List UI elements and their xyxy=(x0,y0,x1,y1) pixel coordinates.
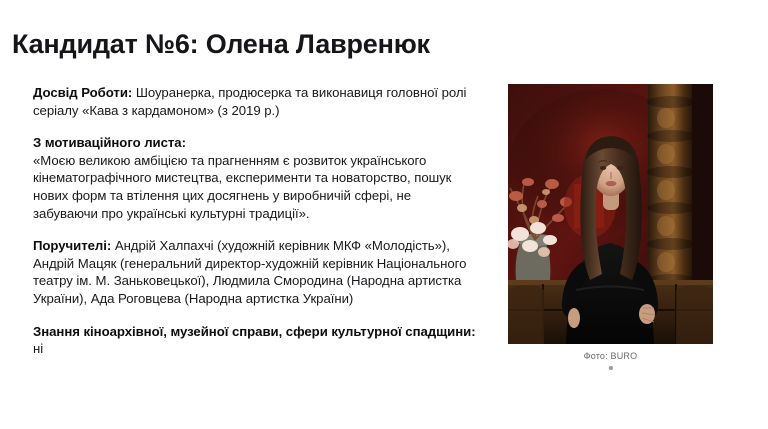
carousel-dot-indicator[interactable] xyxy=(609,366,613,370)
presentation-slide: Кандидат №6: Олена Лавренюк Досвід Робот… xyxy=(0,0,768,429)
experience-label: Досвід Роботи: xyxy=(33,85,132,100)
motivation-label: З мотиваційного листа: xyxy=(33,135,186,150)
knowledge-text: ні xyxy=(33,341,43,356)
guarantors-paragraph: Поручителі: Андрій Халпахчі (художній ке… xyxy=(33,237,479,307)
guarantors-label: Поручителі: xyxy=(33,238,111,253)
knowledge-label: Знання кіноархівної, музейної справи, сф… xyxy=(33,324,476,339)
candidate-photo xyxy=(508,84,713,344)
motivation-paragraph-label: З мотиваційного листа: xyxy=(33,134,479,152)
photo-column: Фото: BURO xyxy=(508,84,713,370)
motivation-text: «Моєю великою амбіцією та прагненням є р… xyxy=(33,153,451,221)
knowledge-paragraph: Знання кіноархівної, музейної справи, сф… xyxy=(33,323,479,358)
page-title: Кандидат №6: Олена Лавренюк xyxy=(12,29,430,60)
photo-caption: Фото: BURO xyxy=(508,351,713,361)
experience-paragraph: Досвід Роботи: Шоуранерка, продюсерка та… xyxy=(33,84,479,119)
motivation-paragraph-text: «Моєю великою амбіцією та прагненням є р… xyxy=(33,152,479,222)
text-column: Досвід Роботи: Шоуранерка, продюсерка та… xyxy=(33,84,479,358)
